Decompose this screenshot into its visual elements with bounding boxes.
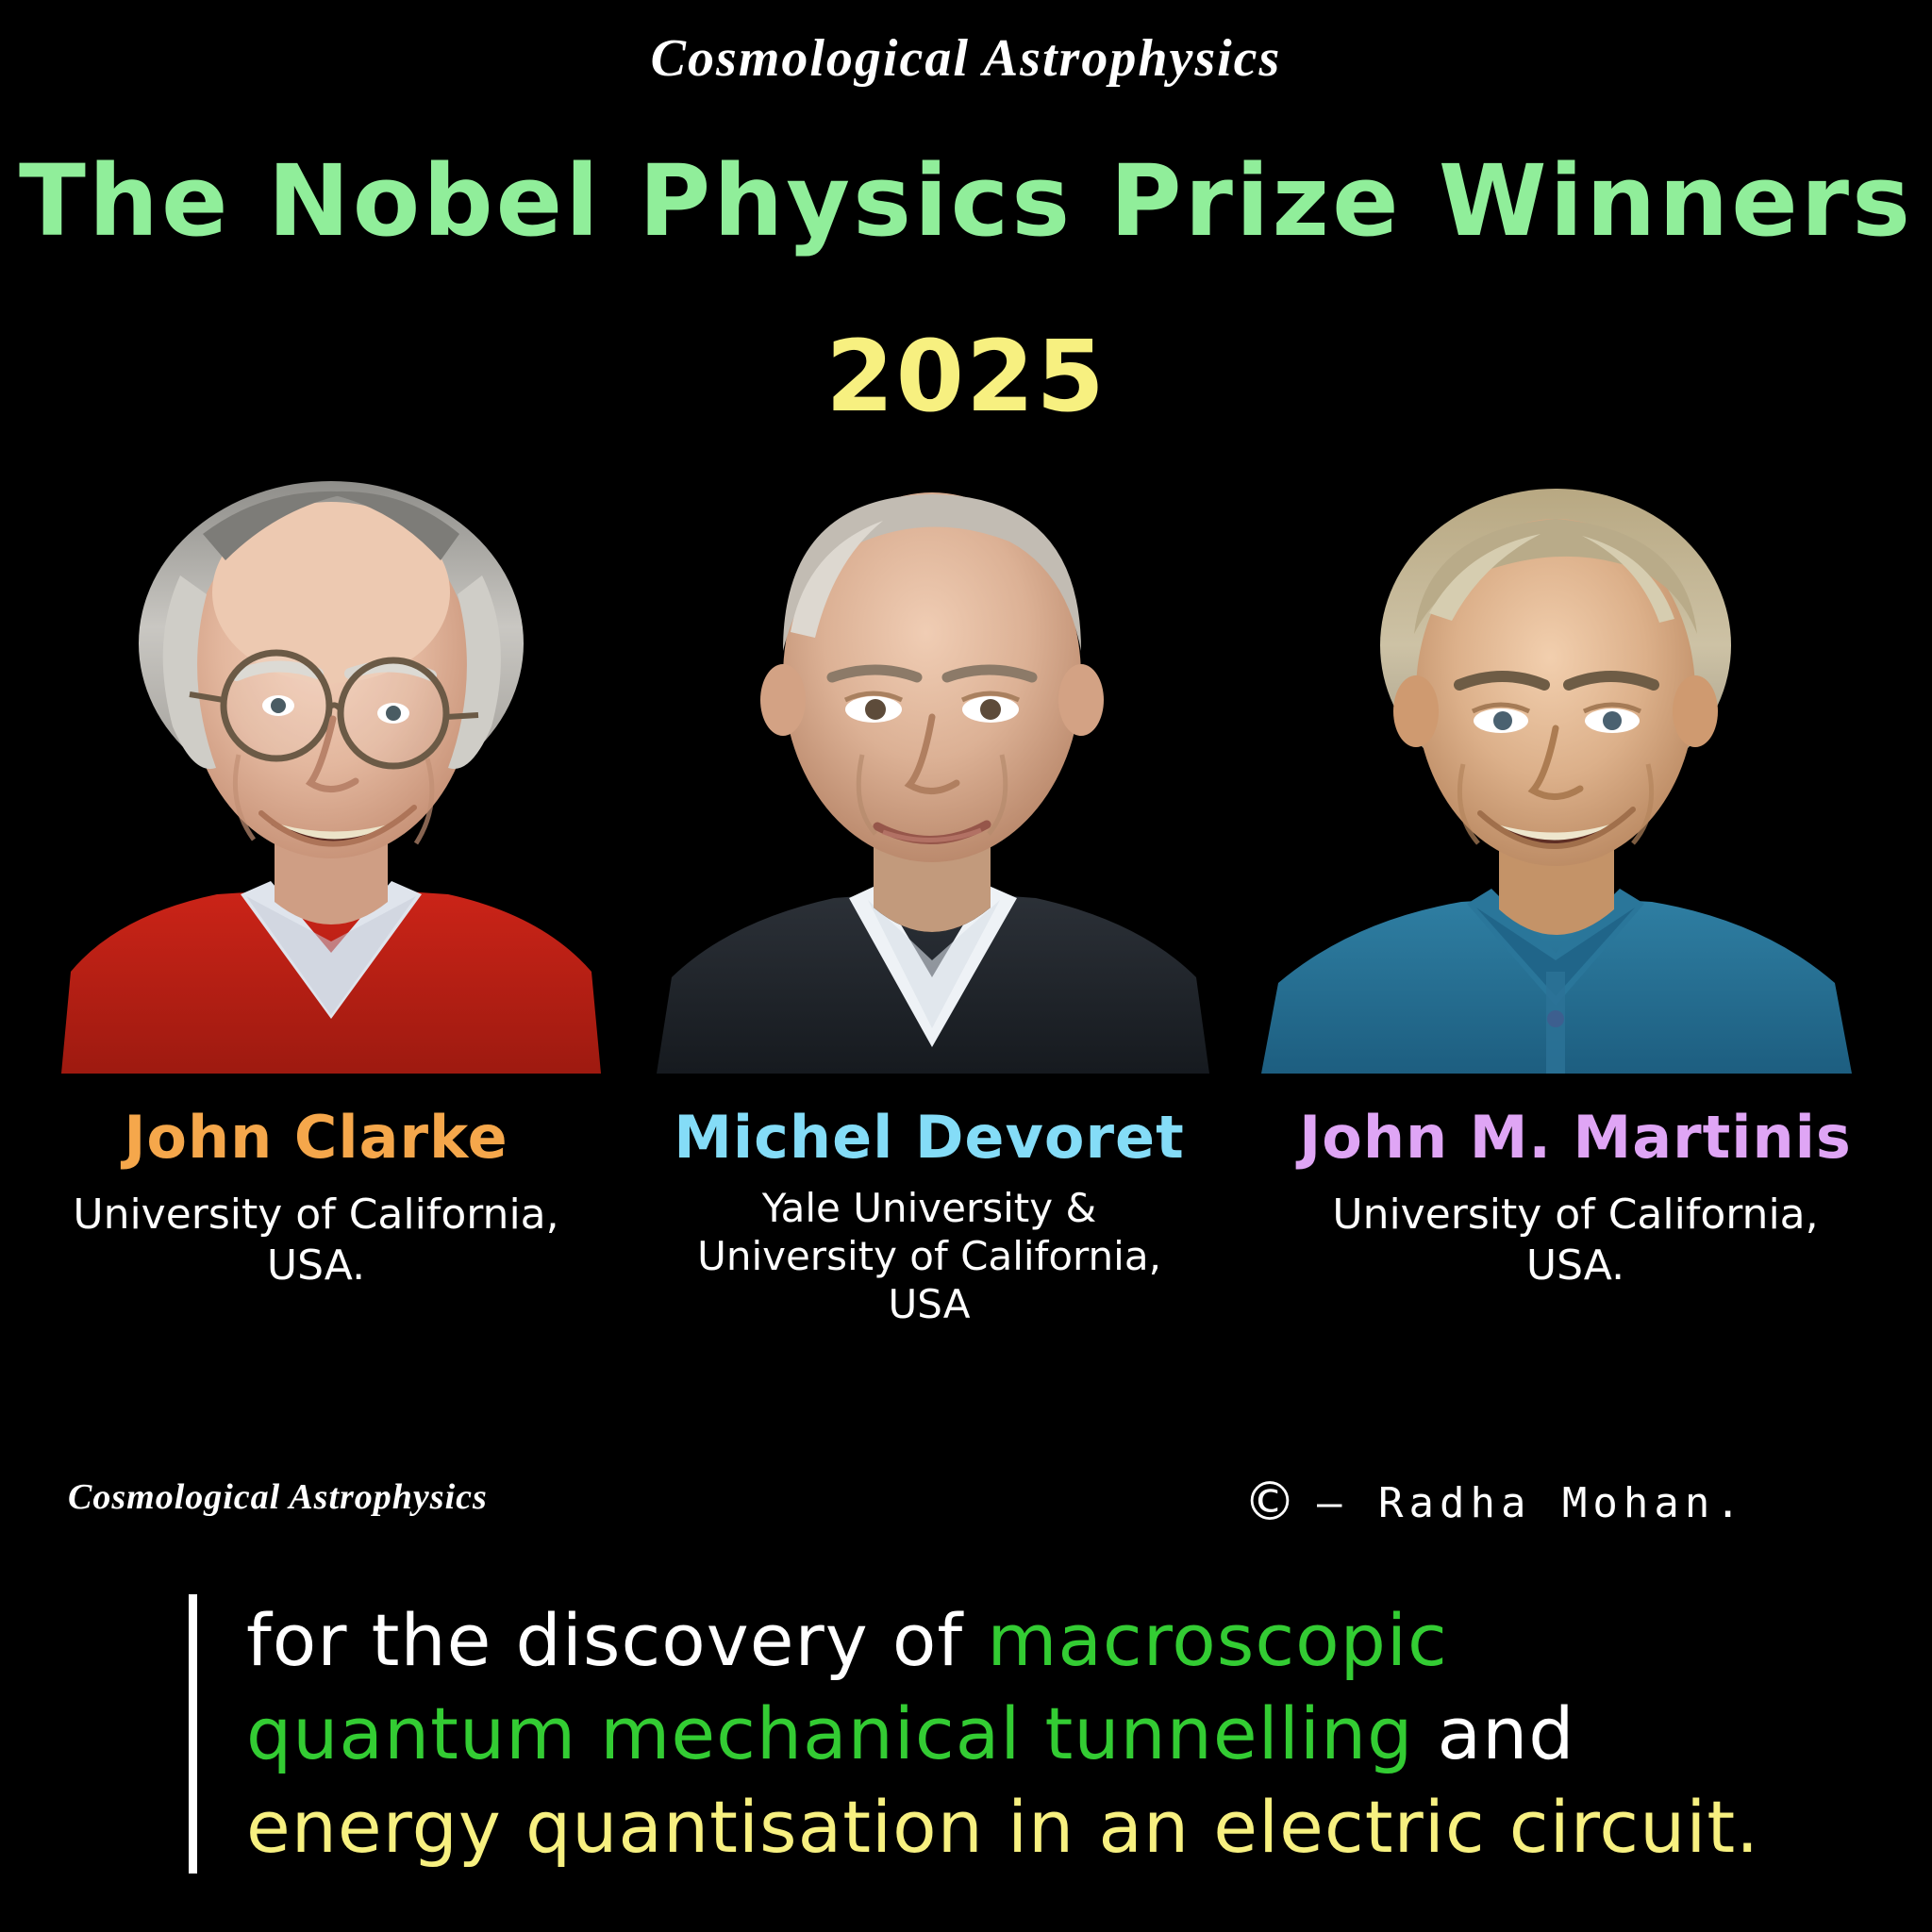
portrait-john-clarke-image <box>52 443 610 1074</box>
poster-root: Cosmological Astrophysics The Nobel Phys… <box>0 0 1932 1932</box>
attribution-text: – Radha Mohan. <box>1317 1479 1746 1527</box>
laureate-block-3: John M. Martinis University of Californi… <box>1245 1108 1906 1291</box>
citation-segment-2b: and <box>1413 1691 1574 1775</box>
laureate-affiliation-1: University of California, USA. <box>19 1190 613 1291</box>
brand-header: Cosmological Astrophysics <box>0 28 1932 89</box>
citation-line-3: energy quantisation in an electric circu… <box>246 1781 1877 1874</box>
page-title: The Nobel Physics Prize Winners <box>0 143 1932 258</box>
laureate-name-1: John Clarke <box>19 1108 613 1167</box>
laureate-affiliation-3: University of California, USA. <box>1245 1190 1906 1291</box>
laureate-block-2: Michel Devoret Yale University & Univers… <box>618 1108 1241 1329</box>
laureate-name-3: John M. Martinis <box>1245 1108 1906 1167</box>
laureate-details-row: John Clarke University of California, US… <box>0 1108 1932 1429</box>
portrait-card-3 <box>1229 443 1880 1074</box>
brand-footer: Cosmological Astrophysics <box>68 1476 488 1518</box>
laureate-name-2: Michel Devoret <box>618 1108 1241 1167</box>
portrait-card-1 <box>52 443 610 1074</box>
citation-line-1: for the discovery of macroscopic <box>246 1594 1877 1688</box>
citation-segment-2a: quantum mechanical tunnelling <box>246 1691 1413 1775</box>
attribution-block: © – Radha Mohan. <box>1243 1476 1746 1529</box>
citation-segment-1b: macroscopic <box>987 1598 1448 1682</box>
prize-citation: for the discovery of macroscopic quantum… <box>189 1594 1877 1874</box>
year-label: 2025 <box>0 319 1932 434</box>
portrait-row <box>0 443 1932 1074</box>
citation-segment-1a: for the discovery of <box>246 1598 987 1682</box>
copyright-icon: © <box>1243 1476 1296 1529</box>
laureate-block-1: John Clarke University of California, US… <box>19 1108 613 1291</box>
portrait-card-2 <box>640 443 1224 1074</box>
citation-line-2: quantum mechanical tunnelling and <box>246 1688 1877 1781</box>
laureate-affiliation-2: Yale University & University of Californ… <box>618 1184 1241 1329</box>
citation-segment-3: energy quantisation in an electric circu… <box>246 1785 1759 1869</box>
portrait-michel-devoret-image <box>640 443 1224 1074</box>
portrait-john-m-martinis-image <box>1229 443 1880 1074</box>
